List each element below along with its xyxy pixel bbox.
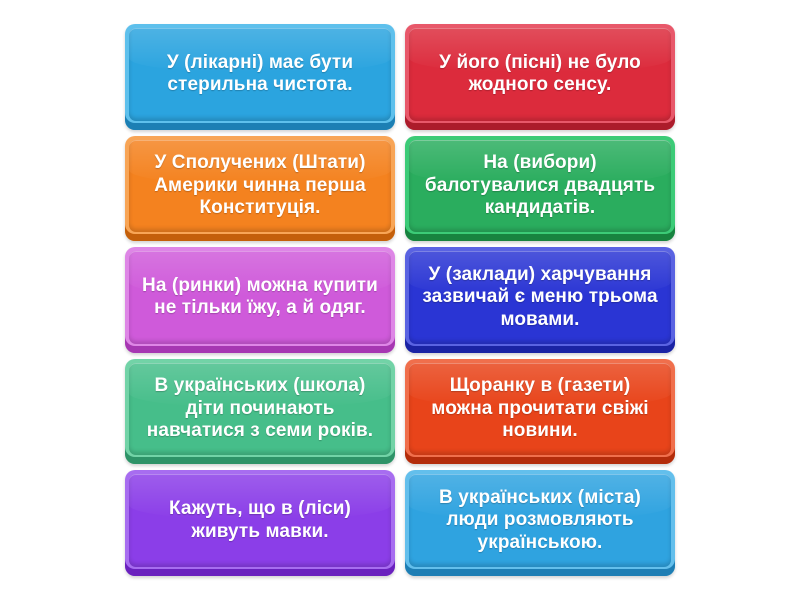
card-face: В українських (міста) люди розмовляють у… — [409, 474, 671, 567]
card-shtaty[interactable]: У Сполучених (Штати) Америки чинна перша… — [125, 136, 395, 242]
card-face: Щоранку в (газети) можна прочитати свіжі… — [409, 363, 671, 456]
card-text: В українських (міста) люди розмовляють у… — [418, 487, 662, 554]
card-text: У (лікарні) має бути стерильна чистота. — [138, 52, 382, 97]
card-rynky[interactable]: На (ринки) можна купити не тільки їжу, а… — [125, 247, 395, 353]
card-text: На (вибори) балотувалися двадцять кандид… — [418, 152, 662, 219]
card-text: Щоранку в (газети) можна прочитати свіжі… — [418, 375, 662, 442]
card-face: В українських (школа) діти починають нав… — [129, 363, 391, 456]
card-lisy[interactable]: Кажуть, що в (ліси) живуть мавки. — [125, 470, 395, 576]
card-face: На (ринки) можна купити не тільки їжу, а… — [129, 251, 391, 344]
card-pisni[interactable]: У його (пісні) не було жодного сенсу. — [405, 24, 675, 130]
card-text: Кажуть, що в (ліси) живуть мавки. — [138, 498, 382, 543]
card-shkola[interactable]: В українських (школа) діти починають нав… — [125, 359, 395, 465]
cards-board: У (лікарні) має бути стерильна чистота.У… — [0, 0, 800, 600]
card-text: У (заклади) харчування зазвичай є меню т… — [418, 264, 662, 331]
card-vybory[interactable]: На (вибори) балотувалися двадцять кандид… — [405, 136, 675, 242]
card-text: У його (пісні) не було жодного сенсу. — [418, 52, 662, 97]
card-hazety[interactable]: Щоранку в (газети) можна прочитати свіжі… — [405, 359, 675, 465]
card-face: У (лікарні) має бути стерильна чистота. — [129, 28, 391, 121]
card-zaklady[interactable]: У (заклади) харчування зазвичай є меню т… — [405, 247, 675, 353]
card-text: У Сполучених (Штати) Америки чинна перша… — [138, 152, 382, 219]
card-face: У Сполучених (Штати) Америки чинна перша… — [129, 140, 391, 233]
card-face: У його (пісні) не було жодного сенсу. — [409, 28, 671, 121]
card-likarni[interactable]: У (лікарні) має бути стерильна чистота. — [125, 24, 395, 130]
card-text: В українських (школа) діти починають нав… — [138, 375, 382, 442]
card-face: На (вибори) балотувалися двадцять кандид… — [409, 140, 671, 233]
card-text: На (ринки) можна купити не тільки їжу, а… — [138, 275, 382, 320]
card-face: У (заклади) харчування зазвичай є меню т… — [409, 251, 671, 344]
card-mista[interactable]: В українських (міста) люди розмовляють у… — [405, 470, 675, 576]
card-face: Кажуть, що в (ліси) живуть мавки. — [129, 474, 391, 567]
